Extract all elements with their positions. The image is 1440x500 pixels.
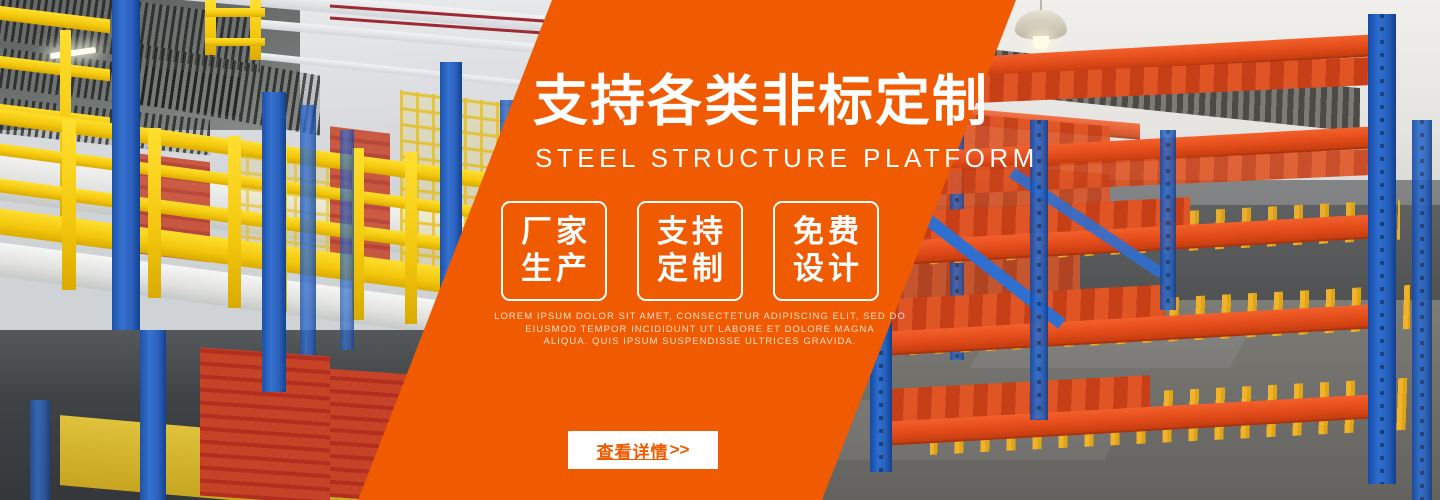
description-text: LOREM IPSUM DOLOR SIT AMET, CONSECTETUR …: [450, 311, 950, 349]
description-line-1: LOREM IPSUM DOLOR SIT AMET, CONSECTETUR …: [450, 311, 950, 324]
feature-badge-line2: 设计: [789, 251, 863, 288]
feature-badge-line2: 生产: [517, 251, 591, 288]
page-title: 支持各类非标定制: [533, 74, 989, 129]
feature-badge-line1: 厂家: [517, 214, 591, 251]
description-line-2: EIUSMOD TEMPOR INCIDIDUNT UT LABORE ET D…: [450, 324, 950, 337]
banner-content: 支持各类非标定制 STEEL STRUCTURE PLATFORM 厂家 生产 …: [0, 0, 1440, 500]
feature-badge-group: 厂家 生产 支持 定制 免费 设计: [501, 201, 879, 301]
feature-badge-line2: 定制: [653, 251, 727, 288]
promo-banner: 支持各类非标定制 STEEL STRUCTURE PLATFORM 厂家 生产 …: [0, 0, 1440, 500]
description-line-3: ALIQUA. QUIS IPSUM SUSPENDISSE ULTRICES …: [450, 336, 950, 349]
feature-badge-line1: 免费: [789, 214, 863, 251]
feature-badge-customization: 支持 定制: [637, 201, 743, 301]
feature-badge-line1: 支持: [653, 214, 727, 251]
feature-badge-free-design: 免费 设计: [773, 201, 879, 301]
view-details-button[interactable]: 查看详情>>: [568, 431, 718, 469]
subtitle: STEEL STRUCTURE PLATFORM: [535, 145, 1039, 171]
view-details-label: 查看详情: [597, 438, 669, 463]
double-chevron-right-icon: >>: [670, 440, 690, 460]
feature-badge-manufacturer: 厂家 生产: [501, 201, 607, 301]
